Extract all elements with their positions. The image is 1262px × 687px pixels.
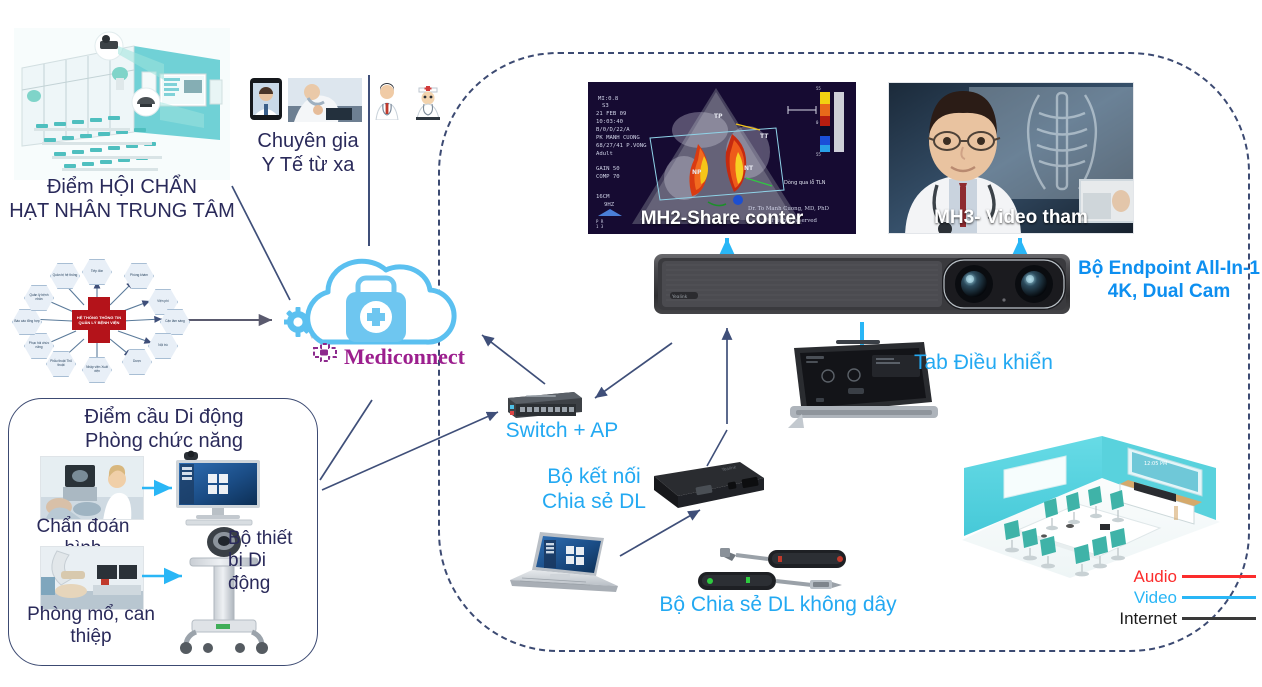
central-room-label: Điểm HỘI CHẨN HẠT NHÂN TRUNG TÂM [0, 176, 244, 223]
legend: Audio Video Internet [1084, 566, 1256, 629]
his-hub-cross: HỆ THỐNG THÔNG TIN QUẢN LÝ BỆNH VIỆN [72, 297, 126, 343]
control-tab-label: Tab Điều khiển [914, 350, 1074, 375]
experts-label-line2: Y Tế từ xa [244, 154, 372, 178]
svg-text:MI:0.8: MI:0.8 [598, 96, 619, 102]
legend-item-internet: Internet [1084, 608, 1256, 629]
network-switch-device [504, 388, 584, 420]
svg-text:16CM: 16CM [596, 194, 610, 200]
legend-label-video: Video [1134, 588, 1177, 608]
meeting-room-illustration: 12:05 PM [952, 432, 1222, 580]
switch-label: Switch + AP [490, 418, 634, 443]
svg-text:55: 55 [816, 86, 821, 91]
svg-text:TP: TP [714, 113, 723, 120]
legend-label-audio: Audio [1134, 567, 1177, 587]
operating-room-photo [40, 546, 144, 610]
legend-item-video: Video [1084, 587, 1256, 608]
svg-text:COMP 70: COMP 70 [596, 174, 620, 180]
central-room-label-line2: HẠT NHÂN TRUNG TÂM [0, 200, 244, 224]
endpoint-label-line1: Bộ Endpoint All-In-1 [1076, 258, 1262, 281]
doctor-tablet-thumb [288, 78, 362, 122]
mh2-share-content-screen: 55055 MI:0.8 S3 21 FEB 09 10:03:40 B/0/D… [588, 82, 856, 234]
wireless-share-label: Bộ Chia sẻ DL không dây [648, 592, 908, 617]
mh3-video-screen: MH3- Video tham [888, 82, 1134, 234]
svg-text:S3: S3 [602, 103, 609, 109]
endpoint-video-bar: Yealink [654, 252, 1070, 318]
mobile-bridge-title: Điểm cầu Di động Phòng chức năng [18, 406, 310, 453]
svg-text:Adult: Adult [596, 151, 613, 157]
legend-item-audio: Audio [1084, 566, 1256, 587]
svg-text:NT: NT [744, 165, 754, 172]
svg-text:10:03:40: 10:03:40 [596, 119, 623, 125]
central-room-label-line1: Điểm HỘI CHẨN [0, 176, 244, 200]
laptop-device [506, 528, 622, 600]
mobile-box-arrows [140, 450, 200, 630]
legend-line-video [1182, 596, 1256, 599]
mh3-caption: MH3- Video tham [889, 207, 1133, 229]
endpoint-label: Bộ Endpoint All-In-1 4K, Dual Cam [1076, 258, 1262, 304]
mediconnect-brand: Mediconnect [344, 344, 465, 370]
svg-text:68/27/41 P.VONG: 68/27/41 P.VONG [596, 143, 647, 149]
svg-text:55: 55 [816, 152, 821, 157]
legend-label-internet: Internet [1119, 609, 1177, 629]
doctor-avatar-icon [372, 82, 402, 120]
mh2-caption: MH2-Share conter [588, 208, 856, 230]
svg-text:TT: TT [760, 133, 769, 140]
svg-text:NP: NP [692, 169, 702, 176]
svg-text:21 FEB 09: 21 FEB 09 [596, 111, 626, 117]
svg-text:GAIN 50: GAIN 50 [596, 166, 620, 172]
experts-label: Chuyên gia Y Tế từ xa [244, 130, 372, 177]
svg-text:12:05 PM: 12:05 PM [1144, 461, 1167, 467]
mediconnect-cloud: Mediconnect [284, 246, 490, 376]
svg-text:Dòng qua lỗ TLN: Dòng qua lỗ TLN [784, 179, 826, 186]
endpoint-label-line2: 4K, Dual Cam [1076, 281, 1262, 304]
his-hub-line2: QUẢN LÝ BỆNH VIỆN [79, 320, 120, 325]
svg-text:B/0/D/22/A: B/0/D/22/A [596, 127, 630, 133]
content-sharing-dongle: Yealink [648, 458, 768, 518]
endpoint-brand-text: Yealink [671, 294, 688, 300]
mediconnect-glyph [314, 344, 336, 361]
mobile-cart-caption: Bộ thiết bị Di động [228, 528, 314, 595]
diagnostic-imaging-photo [40, 456, 144, 520]
svg-text:PK MANH CUONG: PK MANH CUONG [596, 135, 640, 141]
central-conference-room-image [14, 28, 230, 180]
hospital-information-system-diagram: HỆ THỐNG THÔNG TIN QUẢN LÝ BỆNH VIỆN Tiế… [0, 255, 210, 385]
mobile-bridge-title-line1: Điểm cầu Di động [18, 406, 310, 430]
legend-line-internet [1182, 617, 1256, 620]
doctor-phone-thumb [250, 78, 282, 120]
content-dongle-label: Bộ kết nối Chia sẻ DL [534, 464, 654, 514]
experts-label-line1: Chuyên gia [244, 130, 372, 154]
diagram-canvas: Điểm HỘI CHẨN HẠT NHÂN TRUNG TÂM [0, 0, 1262, 687]
nurse-avatar-icon [412, 82, 444, 120]
legend-line-audio [1182, 575, 1256, 578]
